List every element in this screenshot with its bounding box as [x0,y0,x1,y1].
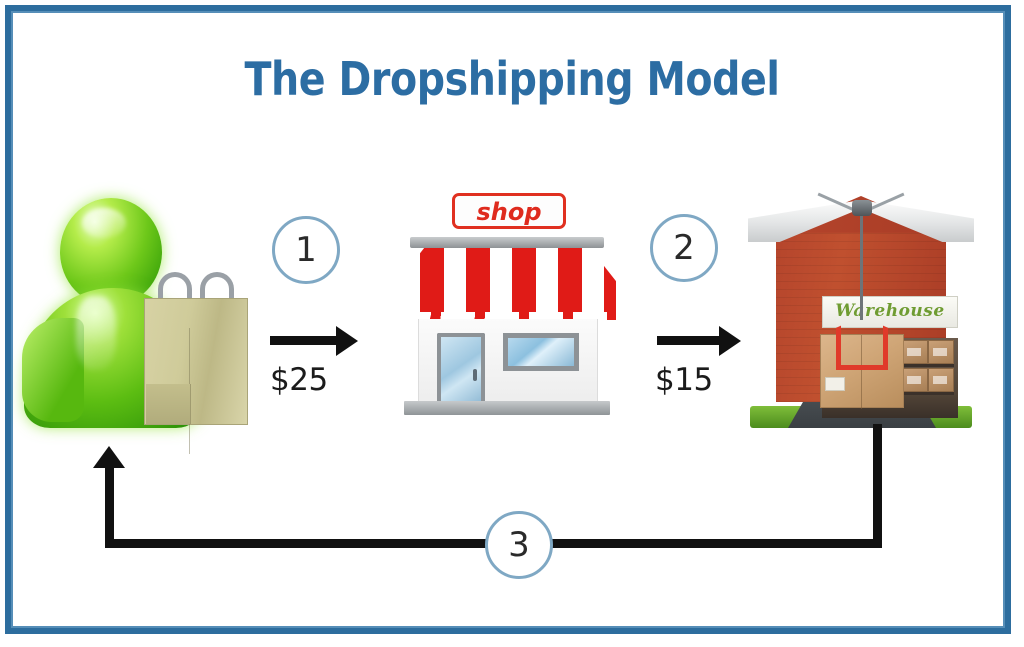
warehouse-box [902,368,928,392]
arrow-2-shaft [657,336,721,345]
warehouse-sign-text: Warehouse [823,301,957,321]
warehouse-box [928,340,954,364]
awning-stripes [398,248,616,320]
shopping-bag-icon [144,270,248,425]
shop-sign: shop [452,193,566,229]
shop-sign-text: shop [455,198,563,226]
shop-roof-bar [410,237,604,248]
arrow-1-shaft [270,336,338,345]
bag-body [144,298,248,425]
arrow-2-head-icon [719,326,741,356]
shop-figure: shop [396,193,618,428]
price-label-1: $25 [270,362,328,398]
bag-fold [146,384,191,424]
warehouse-figure: Warehouse [748,198,974,428]
step-3-badge: 3 [485,511,553,579]
step-1-badge: 1 [272,216,340,284]
shop-window [503,333,579,371]
diagram-canvas: The Dropshipping Model 1 $25 shop [0,0,1024,647]
crane-cable [860,208,863,320]
parcel-label [825,377,845,391]
arrow-1-head-icon [336,326,358,356]
return-path-vertical-right [873,424,882,548]
warehouse-box [902,340,928,364]
return-arrow-head-icon [93,446,125,468]
shop-facade [418,319,598,404]
shop-awning [398,248,616,326]
return-path-vertical-left [105,466,114,548]
shop-door [437,333,485,404]
warehouse-box [928,368,954,392]
price-label-2: $15 [655,362,713,398]
crane-pulley-icon [852,200,872,216]
step-2-badge: 2 [650,214,718,282]
warehouse-sign: Warehouse [822,296,958,328]
shop-base-slab [404,401,610,415]
page-title: The Dropshipping Model [72,52,953,106]
customer-figure [18,190,248,435]
